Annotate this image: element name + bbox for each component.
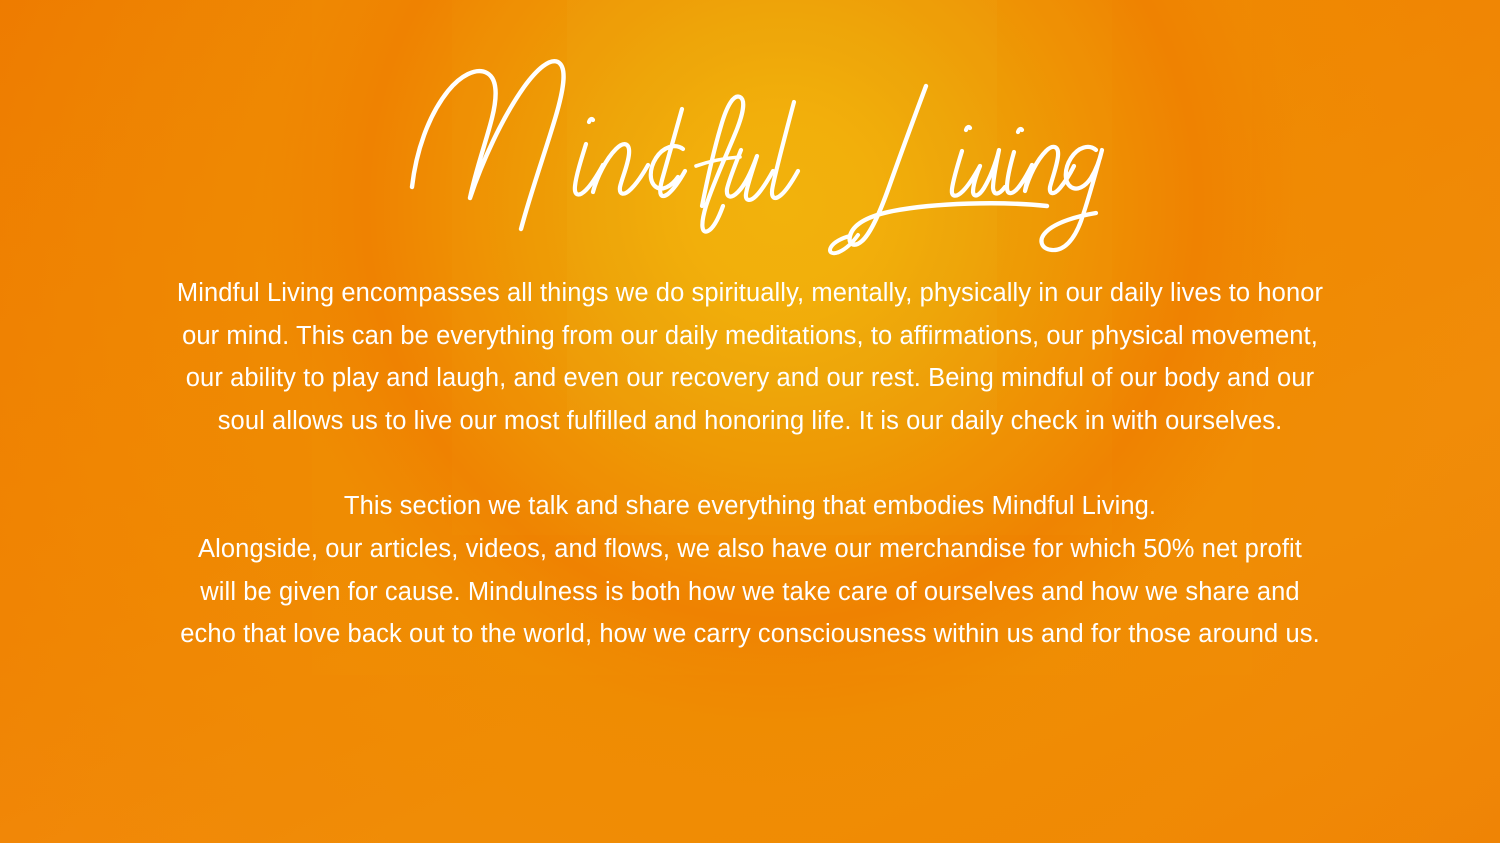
script-letter-d [651,109,685,196]
script-letter-v [973,150,1005,195]
paragraph-intro-line: Mindful Living encompasses all things we… [85,272,1415,315]
paragraph-section: This section we talk and share everythin… [78,485,1423,655]
paragraph-spacer [78,442,1423,485]
mindful-living-script-logo [390,46,1110,261]
script-letter-L [850,86,1047,245]
paragraph-section-line: will be given for cause. Mindulness is b… [78,571,1423,614]
paragraph-intro-line: our ability to play and laugh, and even … [85,357,1415,400]
script-letter-i-dot [589,119,593,122]
paragraph-intro-line: our mind. This can be everything from ou… [85,315,1415,358]
paragraph-intro: Mindful Living encompasses all things we… [85,272,1415,442]
paragraph-section-line: This section we talk and share everythin… [78,485,1423,528]
body-copy: Mindful Living encompasses all things we… [78,272,1423,656]
script-letter-n [593,144,648,194]
paragraph-section-line: Alongside, our articles, videos, and flo… [78,528,1423,571]
page-content: Mindful Living [0,0,1500,843]
script-letter-M [412,61,564,229]
script-letter-i [575,144,603,195]
page-title: Mindful Living [0,46,1500,261]
script-letter-g [1041,147,1102,250]
script-letter-i2-dot [966,127,970,130]
script-letter-i3-dot [1018,129,1022,132]
page-background: Mindful Living [0,0,1500,843]
paragraph-intro-line: soul allows us to live our most fulfille… [85,400,1415,443]
paragraph-section-line: echo that love back out to the world, ho… [78,613,1423,656]
script-letter-l [772,102,798,198]
